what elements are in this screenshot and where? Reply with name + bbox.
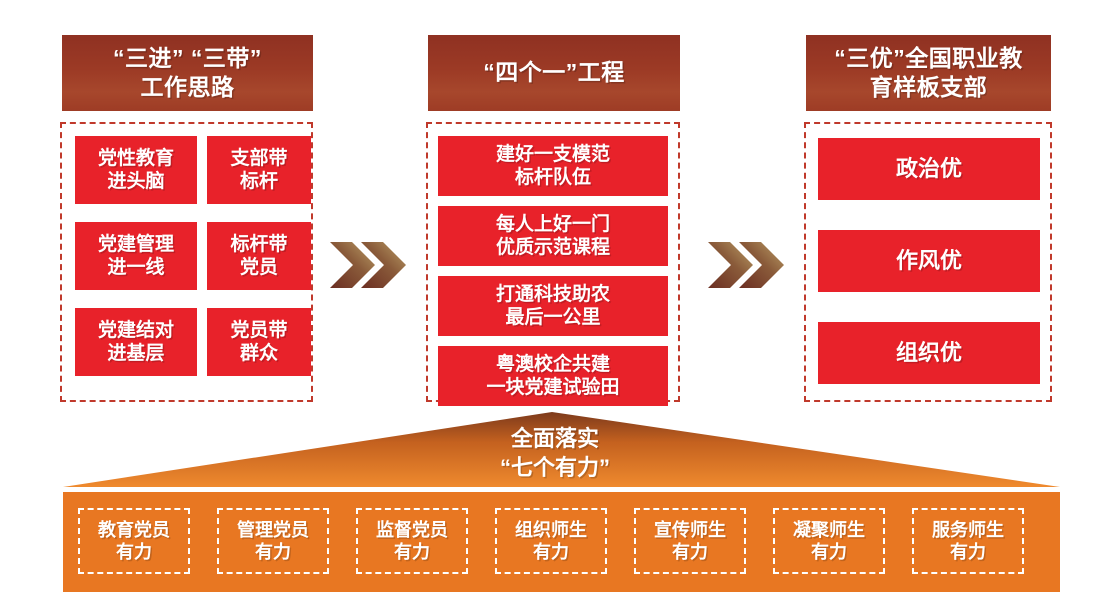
cell-1-6[interactable]: 党员带 群众 xyxy=(207,308,311,376)
cell-2-4[interactable]: 粤澳校企共建 一块党建试验田 xyxy=(438,346,668,406)
diagram-canvas: “三进” “三带” 工作思路 党性教育 进头脑 支部带 标杆 党建管理 进一线 … xyxy=(0,0,1105,603)
roof-label: 全面落实 “七个有力” xyxy=(430,425,680,482)
cell-1-4[interactable]: 标杆带 党员 xyxy=(207,222,311,290)
column-header-2: “四个一”工程 xyxy=(428,35,680,111)
cell-1-2[interactable]: 支部带 标杆 xyxy=(207,136,311,204)
foundation-cell-4[interactable]: 组织师生 有力 xyxy=(495,508,607,574)
foundation-cell-2[interactable]: 管理党员 有力 xyxy=(217,508,329,574)
column-header-1: “三进” “三带” 工作思路 xyxy=(62,35,313,111)
foundation-cell-1[interactable]: 教育党员 有力 xyxy=(78,508,190,574)
cell-3-2[interactable]: 作风优 xyxy=(818,230,1040,292)
foundation-cell-3[interactable]: 监督党员 有力 xyxy=(356,508,468,574)
double-chevron-right-icon xyxy=(708,240,784,290)
foundation-cell-6[interactable]: 凝聚师生 有力 xyxy=(773,508,885,574)
cell-1-1[interactable]: 党性教育 进头脑 xyxy=(75,136,197,204)
cell-2-2[interactable]: 每人上好一门 优质示范课程 xyxy=(438,206,668,266)
cell-1-3[interactable]: 党建管理 进一线 xyxy=(75,222,197,290)
double-chevron-right-icon xyxy=(330,240,406,290)
cell-2-1[interactable]: 建好一支模范 标杆队伍 xyxy=(438,136,668,196)
cell-3-1[interactable]: 政治优 xyxy=(818,138,1040,200)
cell-2-3[interactable]: 打通科技助农 最后一公里 xyxy=(438,276,668,336)
cell-1-5[interactable]: 党建结对 进基层 xyxy=(75,308,197,376)
column-header-3: “三优”全国职业教 育样板支部 xyxy=(806,35,1051,111)
foundation-cell-7[interactable]: 服务师生 有力 xyxy=(912,508,1024,574)
cell-3-3[interactable]: 组织优 xyxy=(818,322,1040,384)
foundation-cell-5[interactable]: 宣传师生 有力 xyxy=(634,508,746,574)
